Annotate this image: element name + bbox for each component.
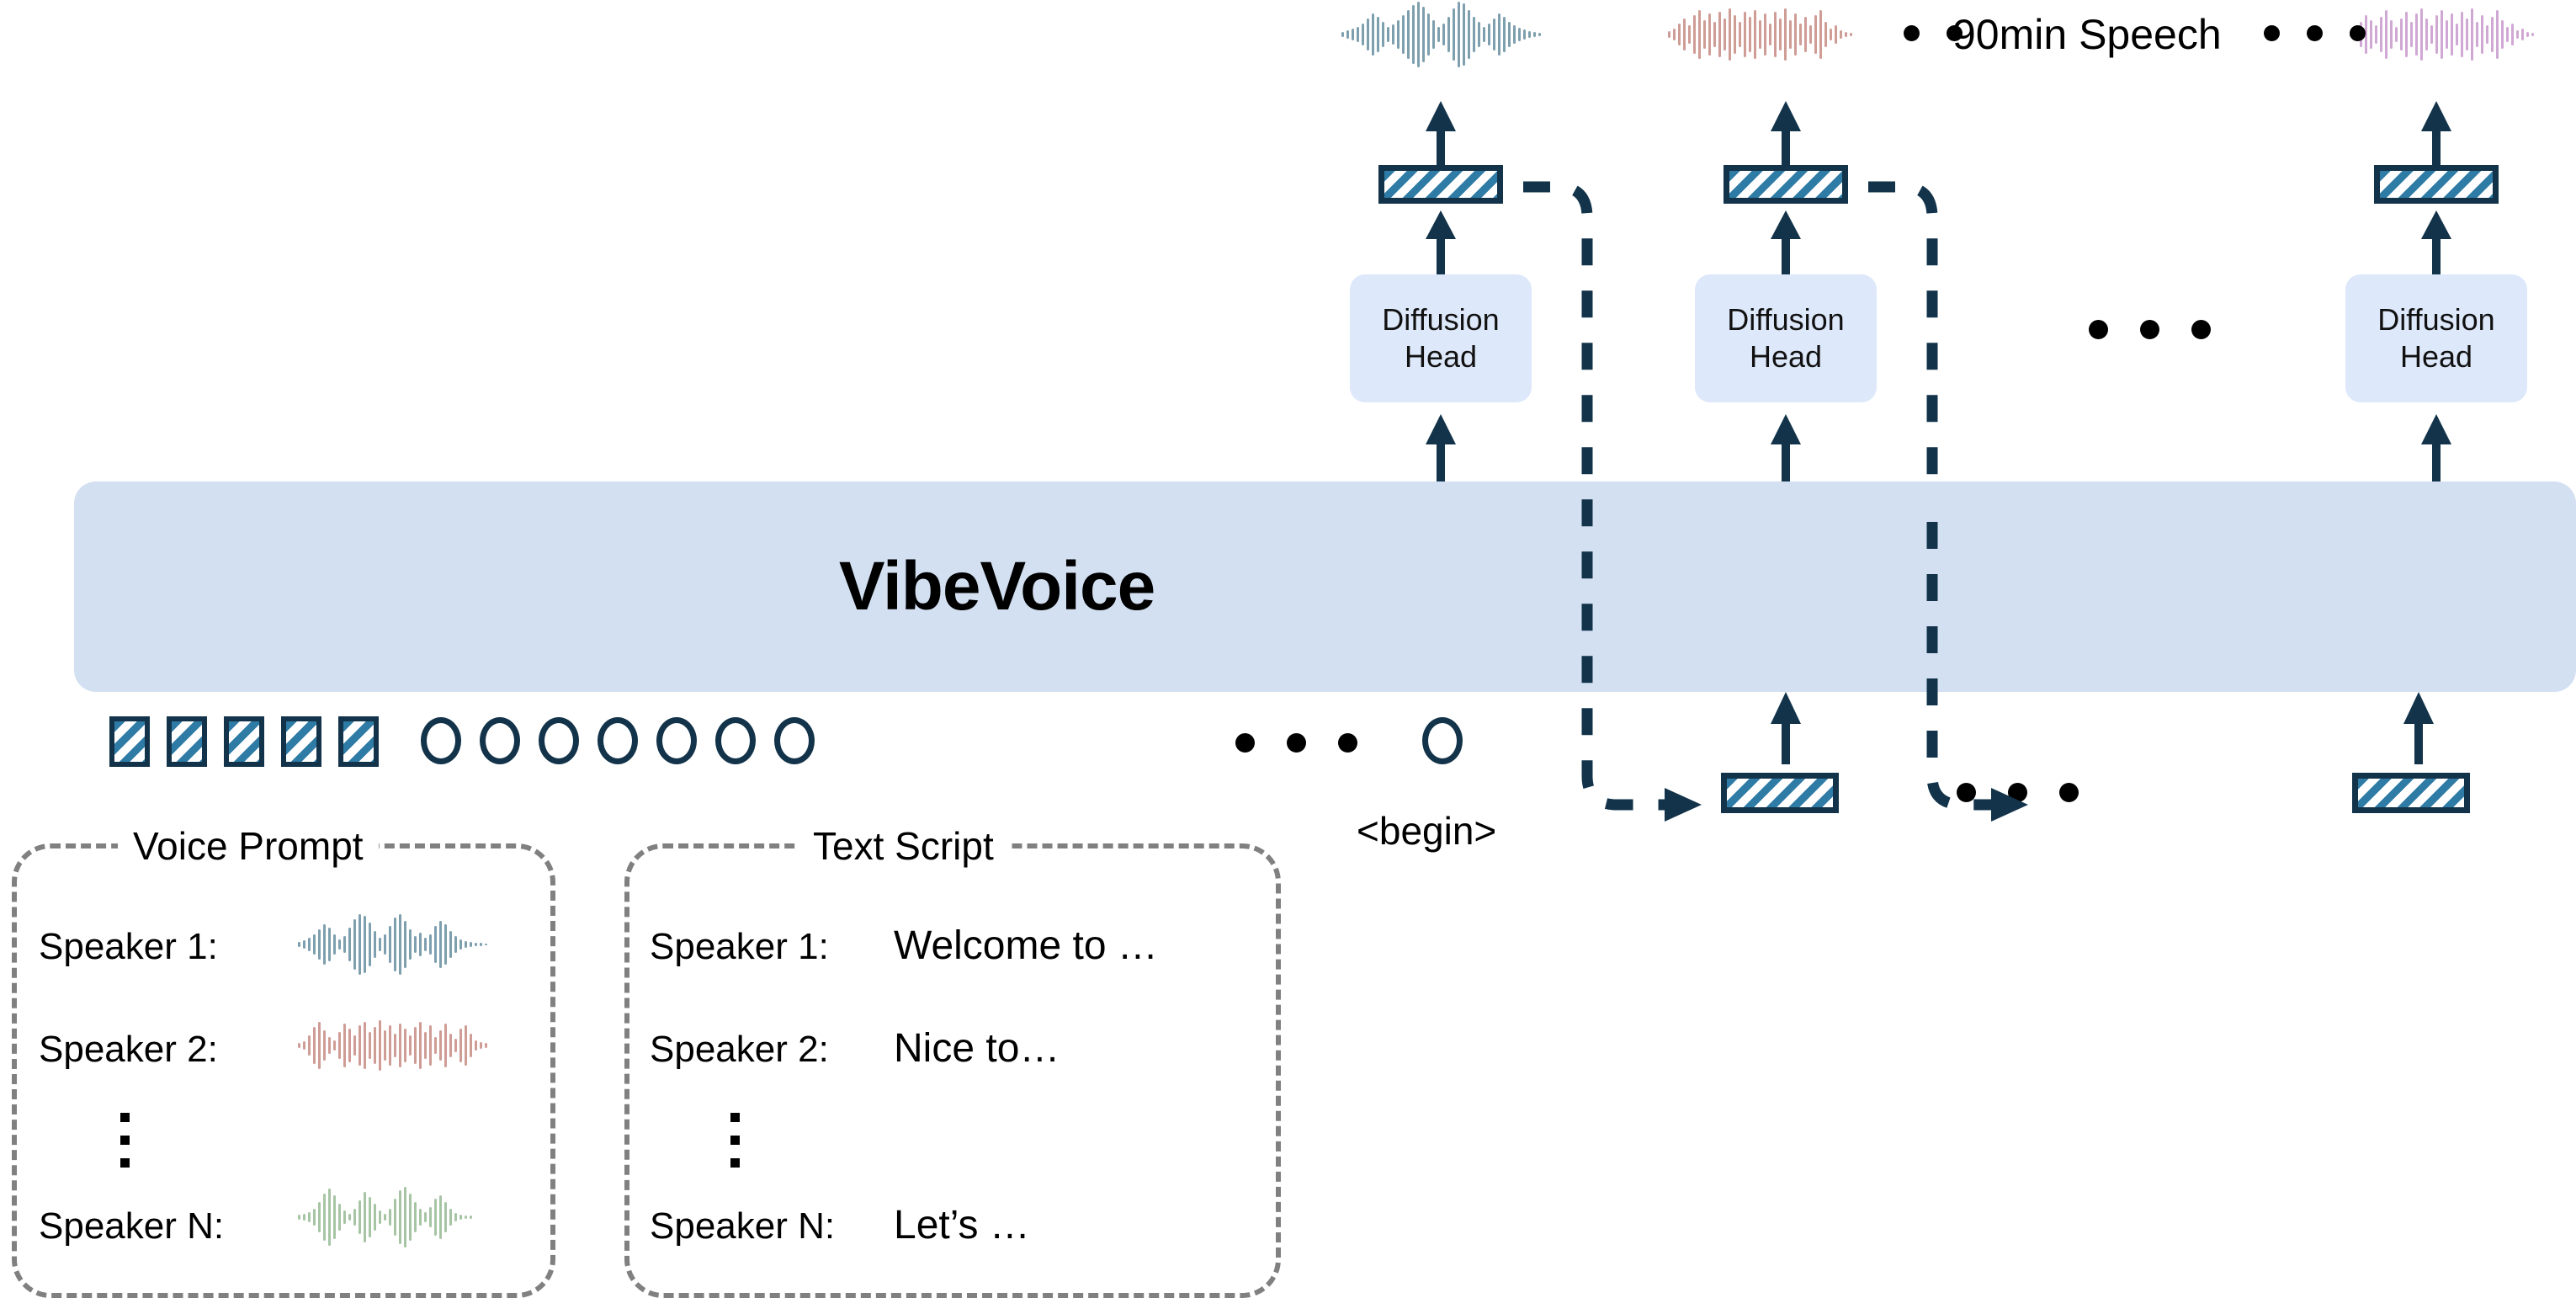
token-row-ellipsis: [1235, 733, 1357, 753]
begin-token-label: <begin>: [1357, 808, 1496, 854]
arrow-model-to-head-1: [1422, 414, 1459, 481]
voice-prompt-speaker-2-label: Speaker 2:: [39, 1029, 218, 1071]
text-script-speaker-2-text: Nice to…: [894, 1025, 1060, 1072]
diffusion-head-line1: Diffusion: [1727, 301, 1844, 338]
voice-token-4: [281, 716, 321, 767]
acoustic-latent-top-1: [1378, 165, 1503, 204]
diffusion-head-1[interactable]: Diffusion Head: [1350, 274, 1532, 402]
text-token-6: [715, 717, 756, 764]
text-script-speaker-n-label: Speaker N:: [650, 1205, 835, 1247]
text-token-1: [421, 717, 461, 764]
arrow-up-to-waveform-3: [2418, 101, 2455, 168]
arrow-up-to-waveform-1: [1422, 101, 1459, 168]
voice-token-1: [109, 716, 150, 767]
arrow-model-to-head-2: [1767, 414, 1804, 481]
text-script-speaker-1-text: Welcome to …: [894, 923, 1158, 969]
voice-token-2: [167, 716, 207, 767]
arrow-model-to-head-3: [2418, 414, 2455, 481]
text-script-title: Text Script: [798, 823, 1009, 869]
diffusion-head-line2: Head: [1405, 338, 1477, 375]
text-token-2: [480, 717, 520, 764]
begin-token: [1422, 717, 1463, 764]
acoustic-latent-top-2: [1724, 165, 1848, 204]
voice-prompt-speaker-n-label: Speaker N:: [39, 1205, 224, 1247]
diffusion-head-line1: Diffusion: [1382, 301, 1499, 338]
text-script-speaker-1-label: Speaker 1:: [650, 926, 829, 968]
output-waveform-2: [1666, 7, 1860, 62]
diagram-canvas: 90min Speech: [0, 0, 2576, 1285]
voice-token-3: [224, 716, 264, 767]
voice-prompt-title: Voice Prompt: [118, 823, 379, 869]
text-script-speaker-2-label: Speaker 2:: [650, 1029, 829, 1071]
text-token-7: [774, 717, 815, 764]
arrow-head-to-latent-3: [2418, 210, 2455, 274]
text-token-3: [539, 717, 579, 764]
vibevoice-title: VibeVoice: [839, 547, 1155, 626]
text-token-4: [598, 717, 638, 764]
diffusion-head-line2: Head: [2400, 338, 2472, 375]
feedback-dashed-path-2b: [2146, 168, 2398, 833]
text-script-speaker-n-text: Let’s …: [894, 1202, 1030, 1248]
feedback-dashed-path-1: [1523, 168, 1742, 833]
output-ellipsis-right: [2264, 25, 2366, 41]
voice-prompt-vertical-ellipsis: [120, 1113, 130, 1168]
output-waveform-3: [2348, 8, 2543, 61]
arrow-head-to-latent-2: [1767, 210, 1804, 274]
arrow-up-to-waveform-2: [1767, 101, 1804, 168]
output-waveform-1: [1340, 2, 1550, 67]
voice-token-5: [338, 716, 379, 767]
voice-prompt-speaker-1-label: Speaker 1:: [39, 926, 218, 968]
diffusion-head-line2: Head: [1750, 338, 1822, 375]
arrow-head-to-latent-1: [1422, 210, 1459, 274]
arrow-latent-to-model-2: [2400, 692, 2437, 764]
text-token-5: [656, 717, 697, 764]
output-speech-label: 90min Speech: [1952, 10, 2222, 59]
text-script-vertical-ellipsis: [730, 1113, 740, 1168]
arrow-latent-to-model-1: [1767, 692, 1804, 764]
